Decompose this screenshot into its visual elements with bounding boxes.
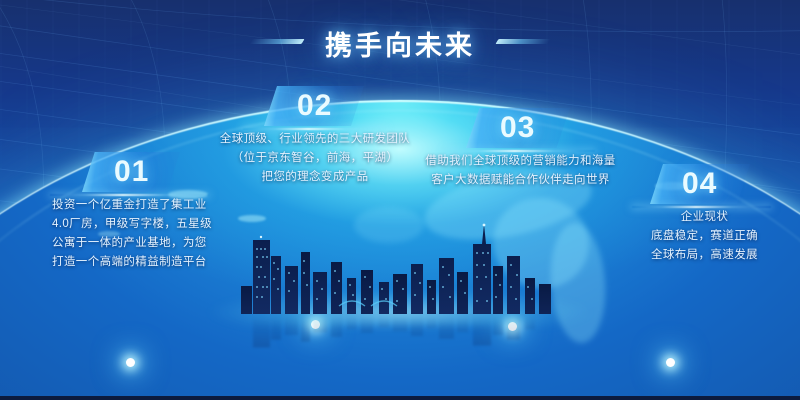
block-number: 02 xyxy=(297,86,415,126)
slide-header: 携手向未来 xyxy=(0,24,800,63)
city-skyline-silhouette xyxy=(235,222,565,314)
bottom-border xyxy=(0,396,800,400)
block-number: 01 xyxy=(114,152,217,192)
title-dash-left-icon xyxy=(251,39,303,48)
glow-node-left xyxy=(126,358,135,367)
glow-node-city-left xyxy=(311,320,320,329)
glow-streak xyxy=(243,128,385,130)
block-number: 03 xyxy=(500,108,623,148)
block-description: 全球顶级、行业领先的三大研发团队 （位于京东智谷，前海，平湖） 把您的理念变成产… xyxy=(215,130,415,187)
glow-streak xyxy=(50,194,209,196)
glow-node-city-right xyxy=(508,322,517,331)
block-number: 04 xyxy=(682,164,797,204)
content-block-03[interactable]: 03 借助我们全球顶级的营销能力和海量 客户大数据赋能合作伙伴走向世界 xyxy=(418,108,623,190)
page-title: 携手向未来 xyxy=(325,24,475,63)
glow-node-right xyxy=(666,358,675,367)
block-description: 借助我们全球顶级的营销能力和海量 客户大数据赋能合作伙伴走向世界 xyxy=(418,152,623,190)
content-block-01[interactable]: 01 投资一个亿重金打造了集工业 4.0厂房，甲级写字楼，五星级 公寓于一体的产… xyxy=(52,152,217,272)
glow-streak xyxy=(632,206,771,208)
slide-canvas: 携手向未来 01 投资一个亿重金打造了集工业 4.0厂房，甲级写字楼，五星级 公… xyxy=(0,0,800,400)
number-row: 03 xyxy=(418,108,623,152)
city-skyline-reflection xyxy=(235,312,565,356)
block-description: 投资一个亿重金打造了集工业 4.0厂房，甲级写字楼，五星级 公寓于一体的产业基地… xyxy=(52,196,217,272)
content-block-04[interactable]: 04 企业现状 底盘稳定，赛道正确 全球布局，高速发展 xyxy=(612,164,797,265)
title-dash-right-icon xyxy=(497,39,549,48)
content-block-02[interactable]: 02 全球顶级、行业领先的三大研发团队 （位于京东智谷，前海，平湖） 把您的理念… xyxy=(215,86,415,187)
block-description: 企业现状 底盘稳定，赛道正确 全球布局，高速发展 xyxy=(612,208,797,265)
number-row: 02 xyxy=(215,86,415,130)
number-row: 01 xyxy=(52,152,217,196)
glow-streak xyxy=(446,150,595,152)
city-horizon-glow xyxy=(185,292,615,326)
number-row: 04 xyxy=(612,164,797,208)
